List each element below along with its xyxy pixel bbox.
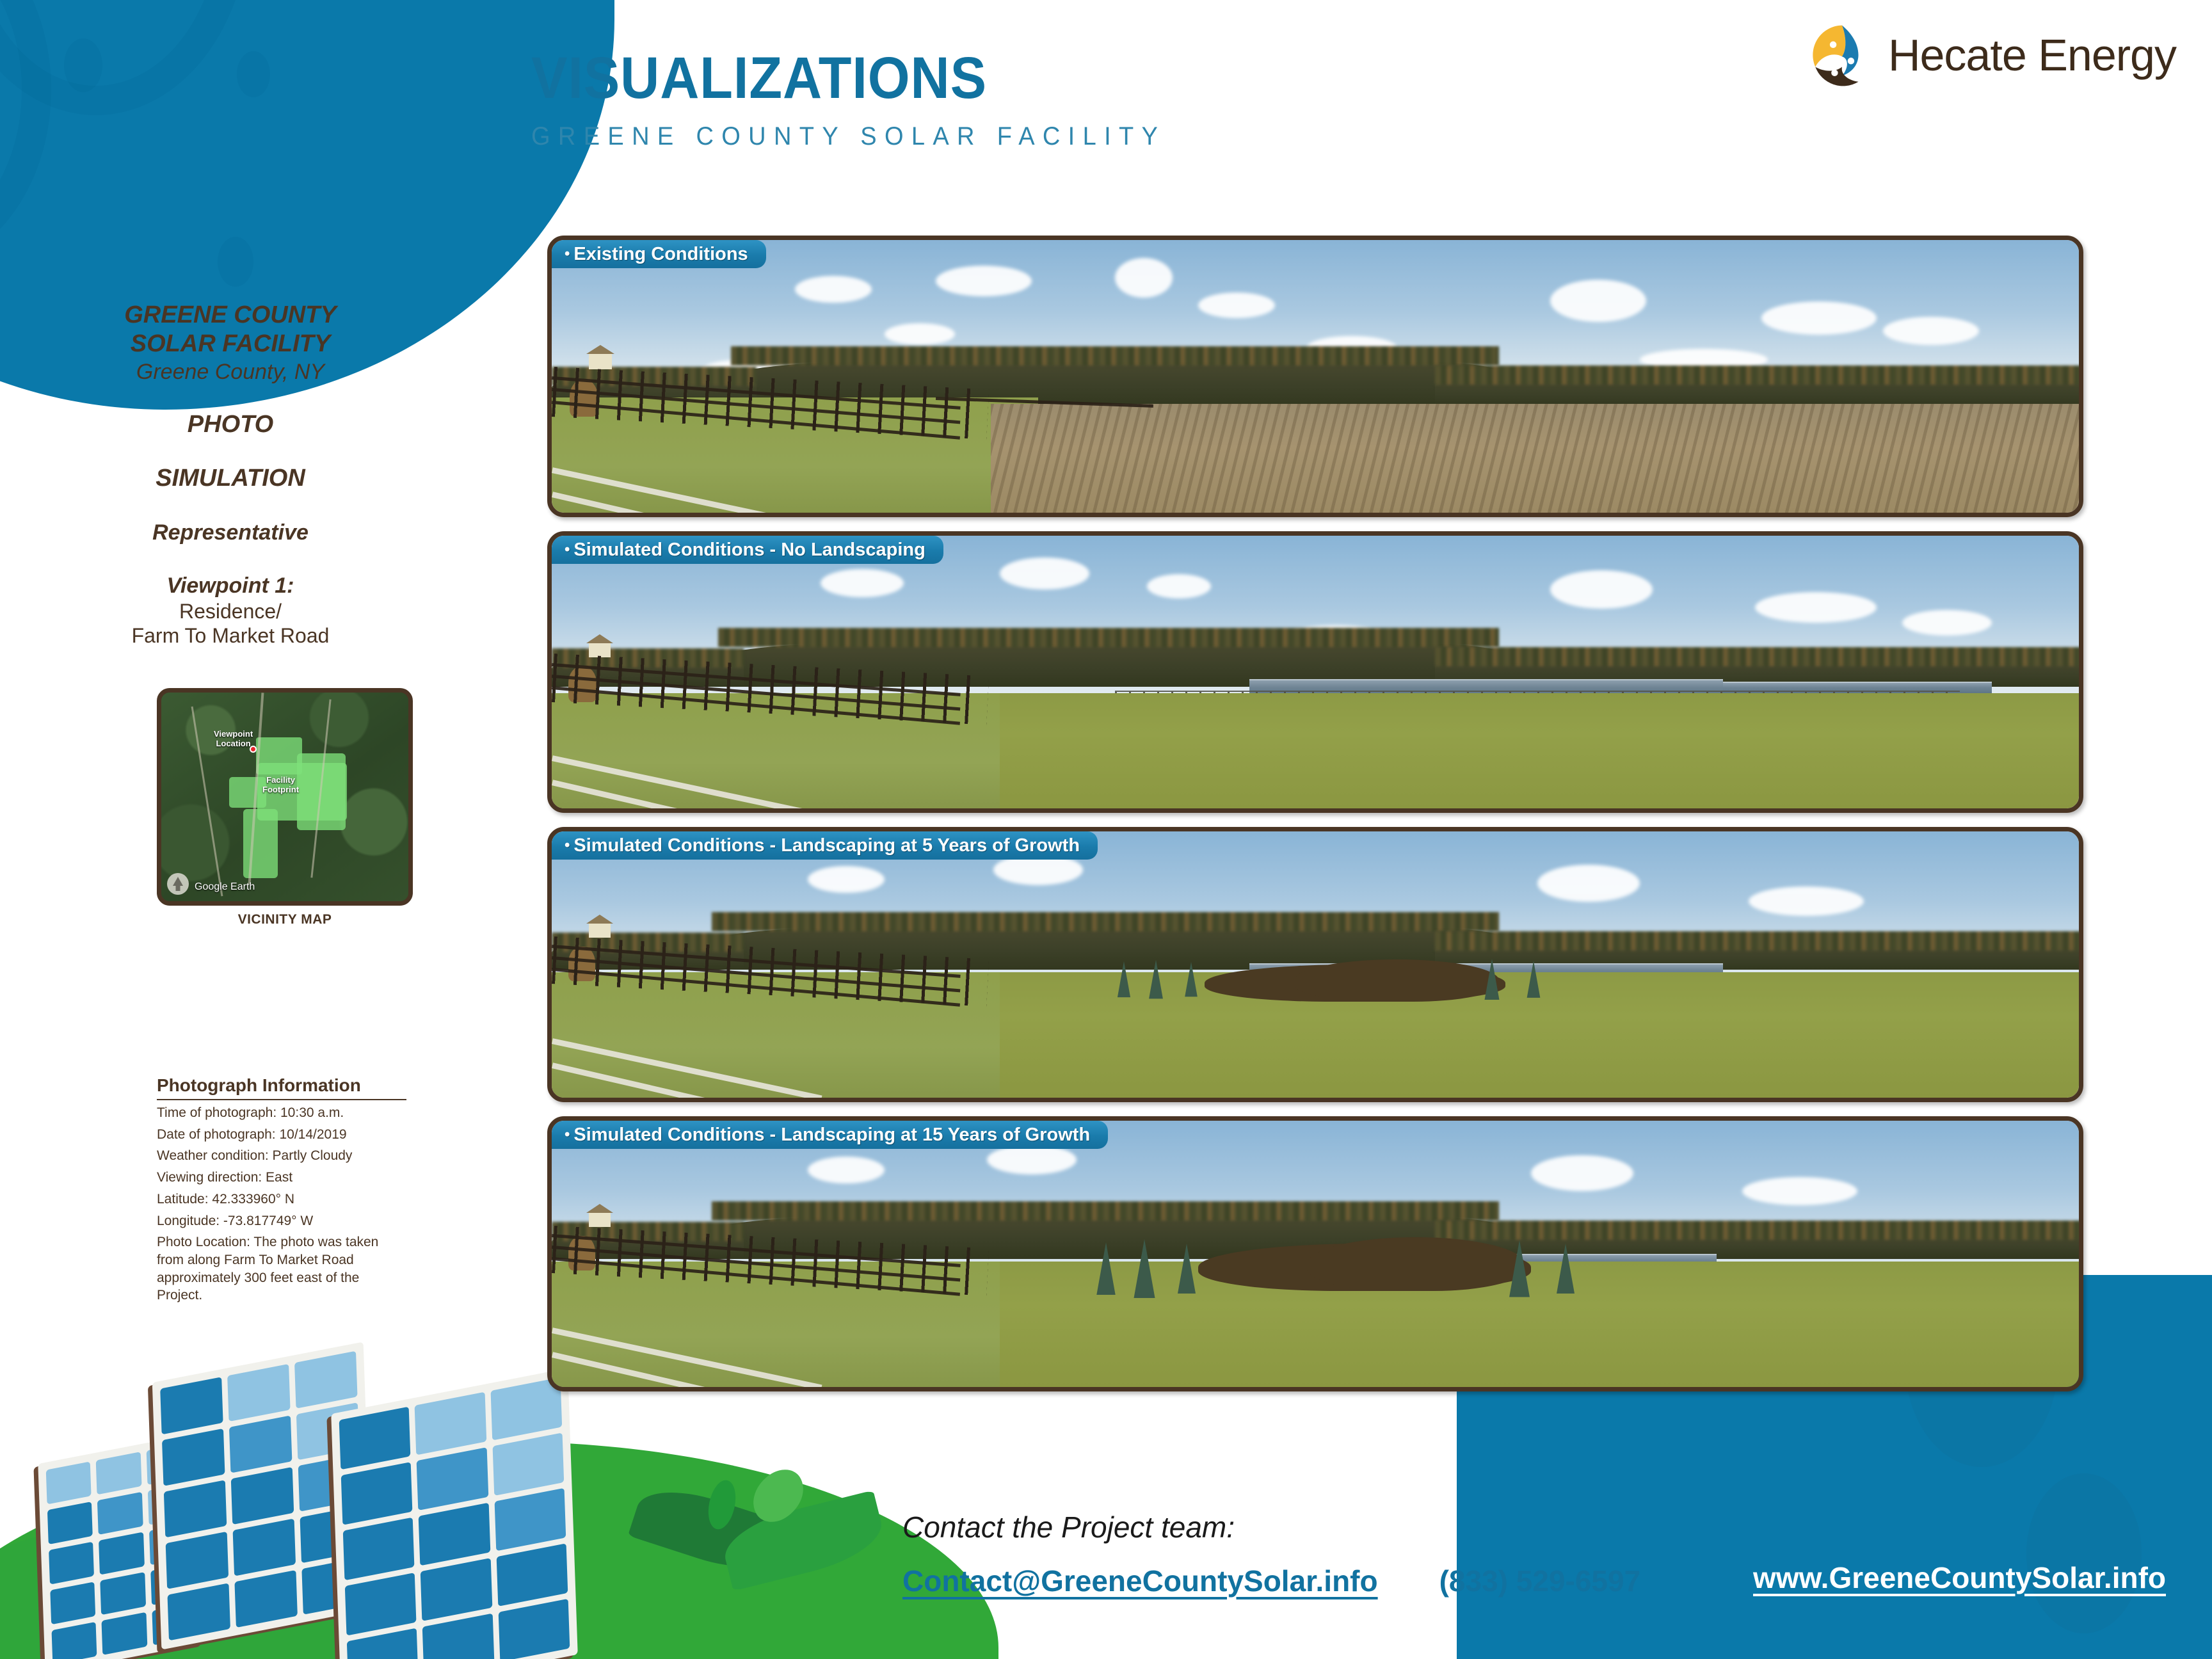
project-website-link[interactable]: www.GreeneCountySolar.info — [1753, 1560, 2166, 1595]
planted-conifer — [1485, 959, 1500, 1000]
planted-conifer — [1527, 961, 1541, 998]
map-viewpoint-label-line2: Location — [216, 739, 250, 748]
page-subtitle: GREENE COUNTY SOLAR FACILITY — [531, 122, 1166, 151]
watermark-dot-1 — [64, 38, 102, 92]
panel-label: • Simulated Conditions - Landscaping at … — [552, 1121, 1108, 1149]
planted-conifer — [1509, 1240, 1530, 1297]
leaf-light — [718, 1490, 889, 1591]
page-header: VISUALIZATIONS GREENE COUNTY SOLAR FACIL… — [531, 45, 1199, 151]
page-title: VISUALIZATIONS — [531, 45, 1146, 112]
barn-icon — [589, 922, 611, 938]
panel-1-scene — [552, 240, 2079, 513]
photo-info-line: Weather condition: Partly Cloudy — [157, 1147, 406, 1165]
panel-label-text: Existing Conditions — [573, 244, 748, 265]
project-name-line2: SOLAR FACILITY — [96, 330, 365, 358]
project-name-line1: GREENE COUNTY — [96, 301, 365, 330]
planted-conifer — [1557, 1244, 1575, 1294]
planted-conifer — [1185, 962, 1198, 997]
footer-watermark-dot-2 — [2026, 1473, 2142, 1633]
company-logo: Hecate Energy — [1805, 18, 2176, 92]
leaves-illustration — [627, 1473, 896, 1640]
panel-label-text: Simulated Conditions - No Landscaping — [573, 540, 925, 561]
barn-icon — [589, 1212, 611, 1227]
panel-3-scene — [552, 831, 2079, 1098]
panel-label: • Simulated Conditions - Landscaping at … — [552, 831, 1098, 860]
sidebar: GREENE COUNTY SOLAR FACILITY Greene Coun… — [96, 301, 365, 648]
visualization-panel[interactable]: • Existing Conditions — [547, 236, 2083, 517]
photo-info-line: Viewing direction: East — [157, 1169, 406, 1187]
bullet-icon: • — [565, 246, 570, 262]
photo-info-line: Time of photograph: 10:30 a.m. — [157, 1104, 406, 1122]
vicinity-map-image[interactable]: Viewpoint Location Facility Footprint Go… — [157, 688, 413, 906]
contact-email-link[interactable]: Contact@GreeneCountySolar.info — [902, 1564, 1378, 1598]
map-viewpoint-pin-icon — [250, 746, 257, 753]
photo-info-line: Longitude: -73.817749° W — [157, 1212, 406, 1230]
viewpoint-subtitle-line2: Farm To Market Road — [96, 623, 365, 648]
bullet-icon: • — [565, 838, 570, 853]
visualization-panel[interactable]: • Simulated Conditions - Landscaping at … — [547, 1116, 2083, 1391]
watermark-ring-2 — [0, 0, 250, 115]
map-footprint-label: Facility Footprint — [262, 776, 299, 795]
contact-heading: Contact the Project team: — [902, 1510, 1640, 1544]
barn-icon — [589, 353, 612, 369]
planted-conifer — [1149, 960, 1163, 999]
photo-info-line: Latitude: 42.333960° N — [157, 1190, 406, 1208]
planted-conifer — [1118, 961, 1130, 997]
photograph-information-block: Photograph Information Time of photograp… — [157, 1075, 406, 1304]
bullet-icon: • — [565, 1127, 570, 1142]
planted-conifer — [1178, 1244, 1196, 1294]
planted-conifer — [1096, 1242, 1115, 1295]
map-parcel-5 — [243, 809, 278, 878]
project-location: Greene County, NY — [96, 360, 365, 385]
planted-shrub — [1307, 1237, 1525, 1291]
panel-label-text: Simulated Conditions - Landscaping at 5 … — [573, 835, 1080, 856]
map-attribution: Google Earth — [195, 881, 255, 893]
viewpoint-title-line1: Representative — [96, 520, 365, 546]
photo-info-line: Photo Location: The photo was taken from… — [157, 1233, 406, 1304]
solar-panel-front — [331, 1368, 577, 1659]
planted-conifer — [1134, 1239, 1155, 1298]
visualization-panel[interactable]: • Simulated Conditions - Landscaping at … — [547, 827, 2083, 1102]
vicinity-map-caption: VICINITY MAP — [157, 912, 413, 927]
map-footprint-label-line1: Facility — [266, 775, 295, 785]
viewpoint-title-line2: Viewpoint 1: — [96, 573, 365, 599]
bullet-icon: • — [565, 542, 570, 557]
photo-info-heading: Photograph Information — [157, 1075, 406, 1100]
hecate-triskelion-logo-icon — [1805, 18, 1879, 92]
watermark-dot-3 — [237, 51, 270, 97]
doc-type-line1: PHOTO — [96, 410, 365, 439]
panel-4-scene — [552, 1121, 2079, 1387]
contact-phone[interactable]: (833) 529-6597 — [1439, 1564, 1641, 1598]
map-footprint-label-line2: Footprint — [262, 785, 299, 794]
planted-shrub — [1294, 959, 1499, 1002]
map-viewpoint-label-line1: Viewpoint — [214, 729, 253, 739]
panel-label: • Simulated Conditions - No Landscaping — [552, 536, 943, 564]
company-name: Hecate Energy — [1888, 29, 2176, 81]
map-north-arrow-icon — [167, 873, 189, 895]
watermark-dot-2 — [218, 237, 253, 287]
map-parcel-4 — [229, 777, 266, 808]
viewpoint-subtitle-line1: Residence/ — [96, 599, 365, 623]
visualization-panel[interactable]: • Simulated Conditions - No Landscaping — [547, 531, 2083, 813]
vicinity-map-block: Viewpoint Location Facility Footprint Go… — [157, 688, 413, 927]
panel-label: • Existing Conditions — [552, 240, 766, 268]
photo-info-line: Date of photograph: 10/14/2019 — [157, 1126, 406, 1144]
panel-label-text: Simulated Conditions - Landscaping at 15… — [573, 1125, 1090, 1146]
map-viewpoint-label: Viewpoint Location — [214, 730, 253, 749]
footer-contact: Contact the Project team: Contact@Greene… — [902, 1510, 1640, 1598]
panel-2-scene — [552, 536, 2079, 808]
doc-type-line2: SIMULATION — [96, 464, 365, 493]
visualization-panels: • Existing Conditions — [547, 236, 2173, 1406]
